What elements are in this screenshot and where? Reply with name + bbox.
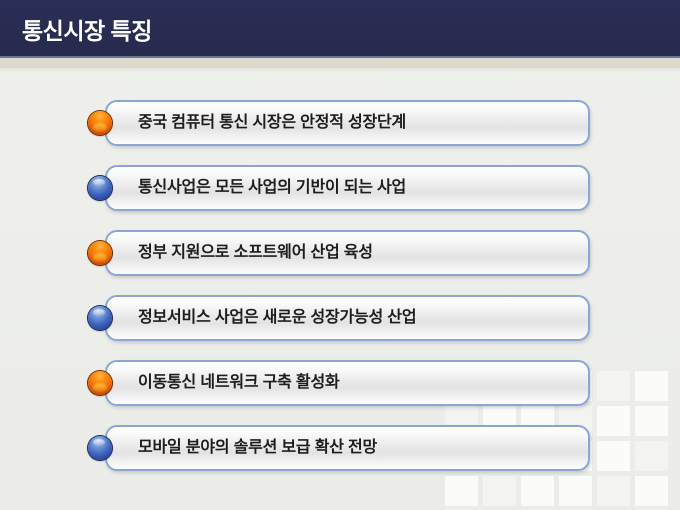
bullet-label: 정부 지원으로 소프트웨어 산업 육성 xyxy=(138,230,373,276)
bullet-label: 통신사업은 모든 사업의 기반이 되는 사업 xyxy=(138,165,406,211)
sphere-blue-icon xyxy=(88,436,112,460)
header-band-fade xyxy=(0,68,680,72)
bullet-row[interactable]: 통신사업은 모든 사업의 기반이 되는 사업 xyxy=(88,165,590,211)
bullet-list: 중국 컴퓨터 통신 시장은 안정적 성장단계통신사업은 모든 사업의 기반이 되… xyxy=(0,0,680,510)
bullet-row[interactable]: 이동통신 네트워크 구축 활성화 xyxy=(88,360,590,406)
sphere-blue-icon xyxy=(88,306,112,330)
slide-canvas: 통신시장 특징 중국 컴퓨터 통신 시장은 안정적 성장단계통신사업은 모든 사… xyxy=(0,0,680,510)
sphere-blue-icon xyxy=(88,176,112,200)
bullet-row[interactable]: 중국 컴퓨터 통신 시장은 안정적 성장단계 xyxy=(88,100,590,146)
header-accent-band xyxy=(0,58,680,68)
slide-header-bar: 통신시장 특징 xyxy=(0,0,680,56)
sphere-orange-icon xyxy=(88,371,112,395)
bullet-row[interactable]: 정보서비스 사업은 새로운 성장가능성 산업 xyxy=(88,295,590,341)
bullet-row[interactable]: 모바일 분야의 솔루션 보급 확산 전망 xyxy=(88,425,590,471)
bullet-label: 이동통신 네트워크 구축 활성화 xyxy=(138,360,340,406)
bullet-label: 중국 컴퓨터 통신 시장은 안정적 성장단계 xyxy=(138,100,406,146)
bullet-row[interactable]: 정부 지원으로 소프트웨어 산업 육성 xyxy=(88,230,590,276)
bullet-label: 모바일 분야의 솔루션 보급 확산 전망 xyxy=(138,425,377,471)
sphere-orange-icon xyxy=(88,241,112,265)
page-title: 통신시장 특징 xyxy=(22,12,152,46)
bullet-label: 정보서비스 사업은 새로운 성장가능성 산업 xyxy=(138,295,416,341)
sphere-orange-icon xyxy=(88,111,112,135)
